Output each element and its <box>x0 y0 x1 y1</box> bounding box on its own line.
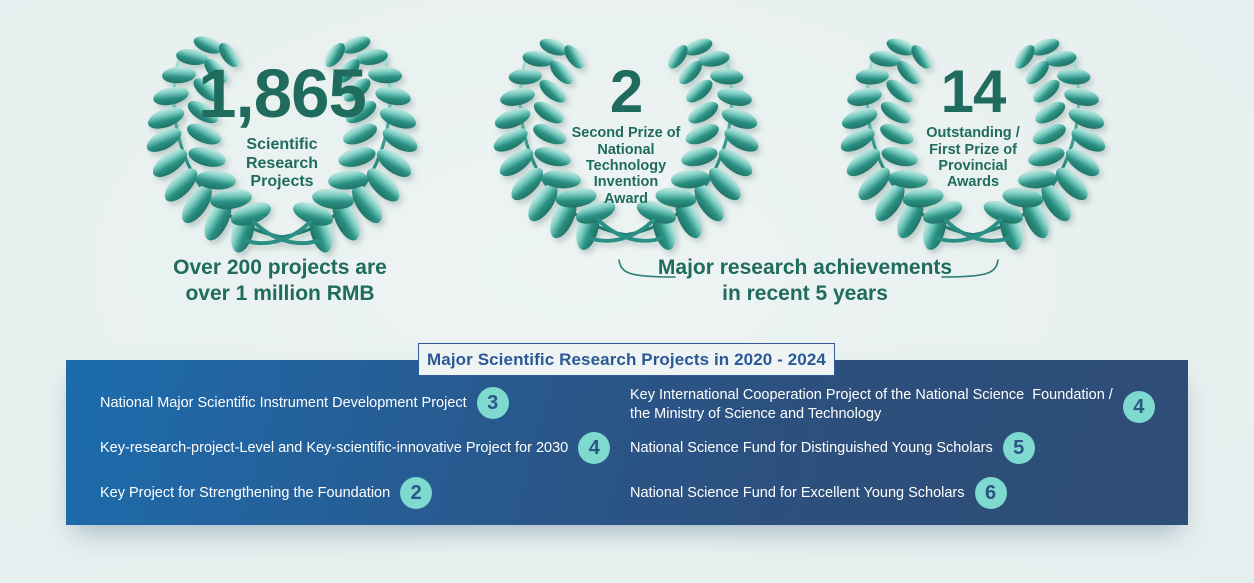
count-badge: 5 <box>1003 432 1035 464</box>
list-item[interactable]: National Science Fund for Distinguished … <box>630 439 1035 464</box>
infographic-canvas: 1,865 Scientific Research Projects <box>0 0 1254 583</box>
list-item-label: Key-research-project-Level and Key-scien… <box>100 439 568 458</box>
list-item-label: National Science Fund for Excellent Youn… <box>630 484 965 503</box>
count-badge: 6 <box>975 477 1007 509</box>
caption-left: Over 200 projects are over 1 million RMB <box>120 255 440 306</box>
list-item[interactable]: Key-research-project-Level and Key-scien… <box>100 439 610 464</box>
stat-number: 2 <box>610 64 642 119</box>
panel-header: Major Scientific Research Projects in 20… <box>418 343 835 376</box>
projects-panel: National Major Scientific Instrument Dev… <box>66 360 1188 525</box>
list-item[interactable]: Key International Cooperation Project of… <box>630 386 1155 424</box>
list-item-label: National Science Fund for Distinguished … <box>630 439 993 458</box>
count-badge: 4 <box>1123 391 1155 423</box>
stat-label: Second Prize of National Technology Inve… <box>572 125 681 207</box>
list-item[interactable]: National Major Scientific Instrument Dev… <box>100 394 509 419</box>
stat-label: Scientific Research Projects <box>246 136 318 190</box>
count-badge: 2 <box>400 477 432 509</box>
laurel-wreath-icon: 14 Outstanding / First Prize of Provinci… <box>842 22 1104 254</box>
list-item-label: Key International Cooperation Project of… <box>630 386 1113 424</box>
stat-block-scientific-research-projects: 1,865 Scientific Research Projects <box>148 22 416 254</box>
list-item[interactable]: Key Project for Strengthening the Founda… <box>100 484 432 509</box>
list-item-label: Key Project for Strengthening the Founda… <box>100 484 390 503</box>
count-badge: 4 <box>578 432 610 464</box>
stat-number: 14 <box>941 64 1006 119</box>
caption-right: Major research achievements in recent 5 … <box>620 255 990 306</box>
panel-header-title: Major Scientific Research Projects in 20… <box>427 350 826 370</box>
laurel-wreath-icon: 1,865 Scientific Research Projects <box>148 22 416 254</box>
count-badge: 3 <box>477 387 509 419</box>
stat-number: 1,865 <box>198 62 366 125</box>
stat-block-national-technology-invention-award: 2 Second Prize of National Technology In… <box>495 22 757 254</box>
stat-block-provincial-awards: 14 Outstanding / First Prize of Provinci… <box>842 22 1104 254</box>
projects-column-left: National Major Scientific Instrument Dev… <box>66 360 627 525</box>
laurel-wreath-icon: 2 Second Prize of National Technology In… <box>495 22 757 254</box>
stat-label: Outstanding / First Prize of Provincial … <box>926 125 1019 191</box>
list-item[interactable]: National Science Fund for Excellent Youn… <box>630 484 1007 509</box>
projects-column-right: Key International Cooperation Project of… <box>627 360 1188 525</box>
list-item-label: National Major Scientific Instrument Dev… <box>100 394 467 413</box>
